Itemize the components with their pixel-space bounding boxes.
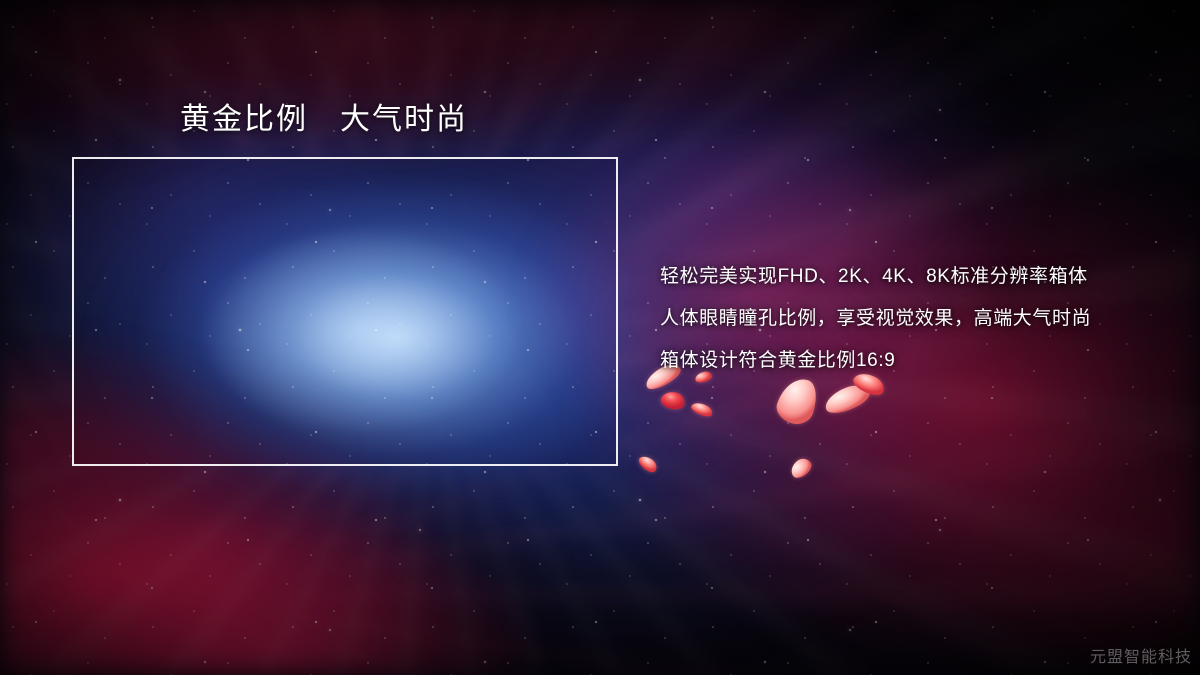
framed-crimson-top <box>72 157 618 466</box>
description-line-1: 轻松完美实现FHD、2K、4K、8K标准分辨率箱体 <box>660 256 1180 298</box>
framed-image-content <box>72 157 618 466</box>
framed-starfield-medium <box>72 157 618 466</box>
petal <box>787 455 814 481</box>
framed-nebula-base <box>72 157 618 466</box>
framed-image <box>72 157 618 466</box>
page-title: 黄金比例 大气时尚 <box>180 101 468 139</box>
framed-nebula-violet <box>72 157 618 466</box>
framed-vignette <box>72 157 618 466</box>
framed-starfield-large <box>72 157 618 466</box>
petal <box>822 381 873 417</box>
framed-crimson-right <box>72 157 618 466</box>
feature-description: 轻松完美实现FHD、2K、4K、8K标准分辨率箱体 人体眼睛瞳孔比例，享受视觉效… <box>660 256 1180 382</box>
petal <box>659 389 687 412</box>
framed-nebula-core <box>72 157 618 466</box>
framed-starfield-small <box>72 157 618 466</box>
description-line-2: 人体眼睛瞳孔比例，享受视觉效果，高端大气时尚 <box>660 298 1180 340</box>
framed-crimson-left <box>72 157 618 466</box>
brand-watermark: 元盟智能科技 <box>1090 643 1192 667</box>
slide-canvas: 黄金比例 大气时尚 轻松完美实现FHD、2K、4K、8K标准分辨率箱体 人体眼睛… <box>0 0 1200 675</box>
petal <box>690 400 715 419</box>
framed-nebula-blue <box>72 157 618 466</box>
description-line-3: 箱体设计符合黄金比例16:9 <box>660 340 1180 382</box>
petal <box>636 453 659 475</box>
